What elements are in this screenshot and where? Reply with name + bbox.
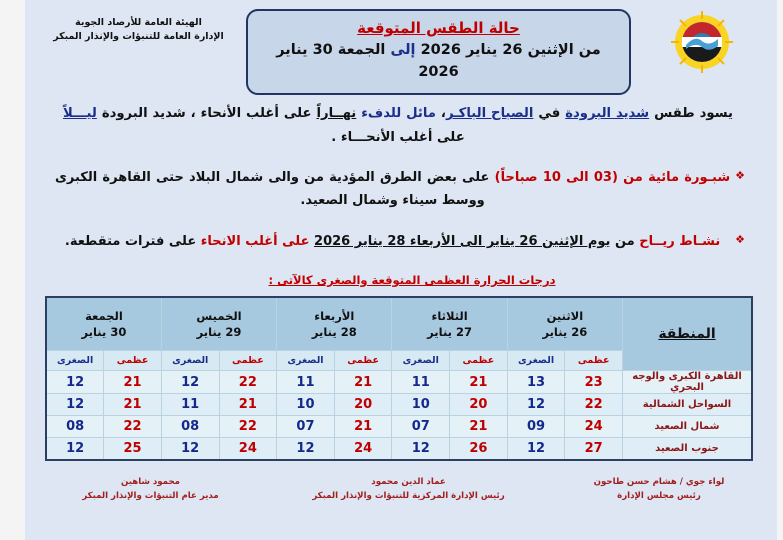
summary-paragraph: يسود طقس شديد البرودة في الصباح الباكـر،… — [41, 102, 755, 149]
bullet-item-wind: ❖ نشـاط ريــاح من يوم الإثنين 26 يناير ا… — [41, 230, 755, 253]
max-cell: 21 — [334, 371, 392, 394]
min-subheader-1: الصغرى — [392, 351, 450, 371]
day-name-4: الجمعة — [47, 308, 161, 325]
min-cell: 07 — [392, 416, 450, 438]
min-cell: 11 — [277, 371, 335, 394]
min-cell: 12 — [507, 394, 565, 416]
day-date-4: 30 يناير — [47, 324, 161, 341]
table-row: القاهرة الكبرى والوجه البحري 23 13 21 11… — [46, 371, 752, 394]
region-cell: جنوب الصعيد — [623, 438, 753, 461]
max-subheader-4: عظمى — [104, 351, 162, 371]
max-cell: 20 — [450, 394, 508, 416]
signature-role: رئيس مجلس الإدارة — [559, 489, 759, 503]
summary-seg-1: يسود طقس — [654, 106, 733, 121]
max-subheader-1: عظمى — [450, 351, 508, 371]
min-cell: 12 — [46, 371, 104, 394]
min-cell: 11 — [161, 394, 219, 416]
day-header-0: الاثنين 26 يناير — [507, 297, 622, 351]
document-date-range: من الإثنين 26 يناير 2026 إلى الجمعة 30 ي… — [258, 40, 619, 84]
min-cell: 07 — [277, 416, 335, 438]
min-cell: 10 — [277, 394, 335, 416]
max-cell: 21 — [450, 371, 508, 394]
min-cell: 08 — [46, 416, 104, 438]
bullet-fog-body: على بعض الطرق المؤدية من والى شمال البلا… — [55, 170, 489, 208]
logo-container — [631, 0, 777, 73]
signature-board-chairman: لواء جوي / هشام حسن طاحون رئيس مجلس الإد… — [559, 475, 759, 503]
bullet-wind-from: من — [615, 234, 635, 249]
min-cell: 08 — [161, 416, 219, 438]
region-cell: السواحل الشمالية — [623, 394, 753, 416]
day-name-0: الاثنين — [508, 308, 622, 325]
max-cell: 22 — [219, 416, 277, 438]
document-title: حالة الطقس المتوقعة — [258, 18, 619, 38]
signature-name: عماد الدين محمود — [276, 475, 541, 489]
max-subheader-2: عظمى — [334, 351, 392, 371]
summary-seg-10: على أغلب الأنحـــاء . — [331, 130, 464, 145]
day-header-4: الجمعة 30 يناير — [46, 297, 161, 351]
min-cell: 12 — [507, 438, 565, 461]
min-cell: 09 — [507, 416, 565, 438]
summary-seg-4: الصباح الباكـر — [446, 106, 533, 121]
min-cell: 10 — [392, 394, 450, 416]
signature-central-admin-head: عماد الدين محمود رئيس الإدارة المركزية ل… — [276, 475, 541, 503]
bullet-fog-text: شبـورة مائية من (03 الى 10 صباحاً) على ب… — [55, 166, 730, 213]
table-head: المنطقة الاثنين 26 يناير الثلاثاء 27 ينا… — [46, 297, 752, 371]
date-range-start: من الإثنين 26 يناير 2026 — [421, 42, 601, 58]
date-range-connector: إلى — [390, 42, 415, 58]
day-date-2: 28 يناير — [277, 324, 391, 341]
region-cell: شمال الصعيد — [623, 416, 753, 438]
forecast-document: الهيئة العامة للأرصاد الجوية الإدارة الع… — [0, 0, 783, 540]
day-header-3: الخميس 29 يناير — [161, 297, 276, 351]
region-cell: القاهرة الكبرى والوجه البحري — [623, 371, 753, 394]
max-cell: 24 — [334, 438, 392, 461]
max-cell: 21 — [104, 394, 162, 416]
min-cell: 12 — [392, 438, 450, 461]
max-cell: 21 — [450, 416, 508, 438]
day-name-3: الخميس — [162, 308, 276, 325]
temperature-table: المنطقة الاثنين 26 يناير الثلاثاء 27 ينا… — [45, 296, 753, 461]
min-cell: 12 — [46, 394, 104, 416]
agency-identity: الهيئة العامة للأرصاد الجوية الإدارة الع… — [25, 0, 246, 45]
signature-name: لواء جوي / هشام حسن طاحون — [559, 475, 759, 489]
diamond-bullet-icon: ❖ — [730, 166, 745, 186]
max-cell: 26 — [450, 438, 508, 461]
table-body: القاهرة الكبرى والوجه البحري 23 13 21 11… — [46, 371, 752, 461]
max-subheader-0: عظمى — [565, 351, 623, 371]
summary-seg-8: على أغلب الأنحاء ، شديد البرودة — [102, 106, 312, 121]
region-column-header: المنطقة — [623, 297, 753, 371]
signature-forecast-director: محمود شاهين مدير عام التنبؤات والإنذار ا… — [43, 475, 258, 503]
table-header-row-days: المنطقة الاثنين 26 يناير الثلاثاء 27 ينا… — [46, 297, 752, 351]
min-cell: 12 — [161, 371, 219, 394]
day-date-1: 27 يناير — [392, 324, 506, 341]
signature-name: محمود شاهين — [43, 475, 258, 489]
day-date-3: 29 يناير — [162, 324, 276, 341]
bullet-item-fog: ❖ شبـورة مائية من (03 الى 10 صباحاً) على… — [41, 166, 755, 213]
max-subheader-3: عظمى — [219, 351, 277, 371]
day-header-2: الأربعاء 28 يناير — [277, 297, 392, 351]
summary-seg-6: مائل للدفء — [361, 106, 436, 121]
document-footer: محمود شاهين مدير عام التنبؤات والإنذار ا… — [25, 461, 777, 503]
min-cell: 11 — [392, 371, 450, 394]
day-name-2: الأربعاء — [277, 308, 391, 325]
min-subheader-2: الصغرى — [277, 351, 335, 371]
day-name-1: الثلاثاء — [392, 308, 506, 325]
bullet-wind-period: يوم الإثنين 26 يناير الى الأربعاء 28 ينا… — [314, 234, 610, 249]
bullet-wind-coverage: على أغلب الانحاء — [201, 234, 310, 249]
max-cell: 20 — [334, 394, 392, 416]
signature-role: رئيس الإدارة المركزية للتنبؤات والإنذار … — [276, 489, 541, 503]
summary-seg-9: ليـــلاً — [63, 106, 97, 121]
document-body: يسود طقس شديد البرودة في الصباح الباكـر،… — [25, 102, 777, 287]
min-cell: 12 — [161, 438, 219, 461]
max-cell: 23 — [565, 371, 623, 394]
day-header-1: الثلاثاء 27 يناير — [392, 297, 507, 351]
min-subheader-3: الصغرى — [161, 351, 219, 371]
summary-seg-2: شديد البرودة — [565, 106, 649, 121]
min-cell: 13 — [507, 371, 565, 394]
table-caption: درجات الحرارة العظمى المتوقعة والصغرى كا… — [41, 273, 755, 287]
table-row: جنوب الصعيد 27 12 26 12 24 12 24 12 25 1… — [46, 438, 752, 461]
summary-seg-3: في — [538, 106, 560, 121]
min-cell: 12 — [277, 438, 335, 461]
day-date-0: 26 يناير — [508, 324, 622, 341]
max-cell: 22 — [219, 371, 277, 394]
document-header: الهيئة العامة للأرصاد الجوية الإدارة الع… — [25, 0, 777, 88]
min-subheader-0: الصغرى — [507, 351, 565, 371]
title-banner: حالة الطقس المتوقعة من الإثنين 26 يناير … — [246, 9, 631, 95]
max-cell: 24 — [219, 438, 277, 461]
max-cell: 21 — [219, 394, 277, 416]
max-cell: 21 — [104, 371, 162, 394]
bullet-wind-text: نشـاط ريــاح من يوم الإثنين 26 يناير الى… — [55, 230, 730, 253]
bullet-fog-highlight: شبـورة مائية من (03 الى 10 صباحاً) — [495, 170, 731, 185]
summary-seg-7: نهــاراً — [317, 106, 357, 121]
max-cell: 21 — [334, 416, 392, 438]
temperature-table-container: المنطقة الاثنين 26 يناير الثلاثاء 27 ينا… — [45, 296, 757, 461]
max-cell: 24 — [565, 416, 623, 438]
max-cell: 22 — [565, 394, 623, 416]
agency-line-2: الإدارة العامة للتنبؤات والإنذار المبكر — [31, 30, 246, 44]
bullet-wind-lead: نشـاط ريــاح — [639, 234, 720, 249]
bullet-wind-tail: على فترات متقطعة. — [65, 234, 196, 249]
signature-role: مدير عام التنبؤات والإنذار المبكر — [43, 489, 258, 503]
min-subheader-4: الصغرى — [46, 351, 104, 371]
max-cell: 27 — [565, 438, 623, 461]
table-row: شمال الصعيد 24 09 21 07 21 07 22 08 22 0… — [46, 416, 752, 438]
ema-sun-logo-icon — [671, 11, 733, 73]
diamond-bullet-icon: ❖ — [730, 230, 745, 250]
max-cell: 22 — [104, 416, 162, 438]
table-row: السواحل الشمالية 22 12 20 10 20 10 21 11… — [46, 394, 752, 416]
min-cell: 12 — [46, 438, 104, 461]
max-cell: 25 — [104, 438, 162, 461]
agency-line-1: الهيئة العامة للأرصاد الجوية — [31, 16, 246, 30]
